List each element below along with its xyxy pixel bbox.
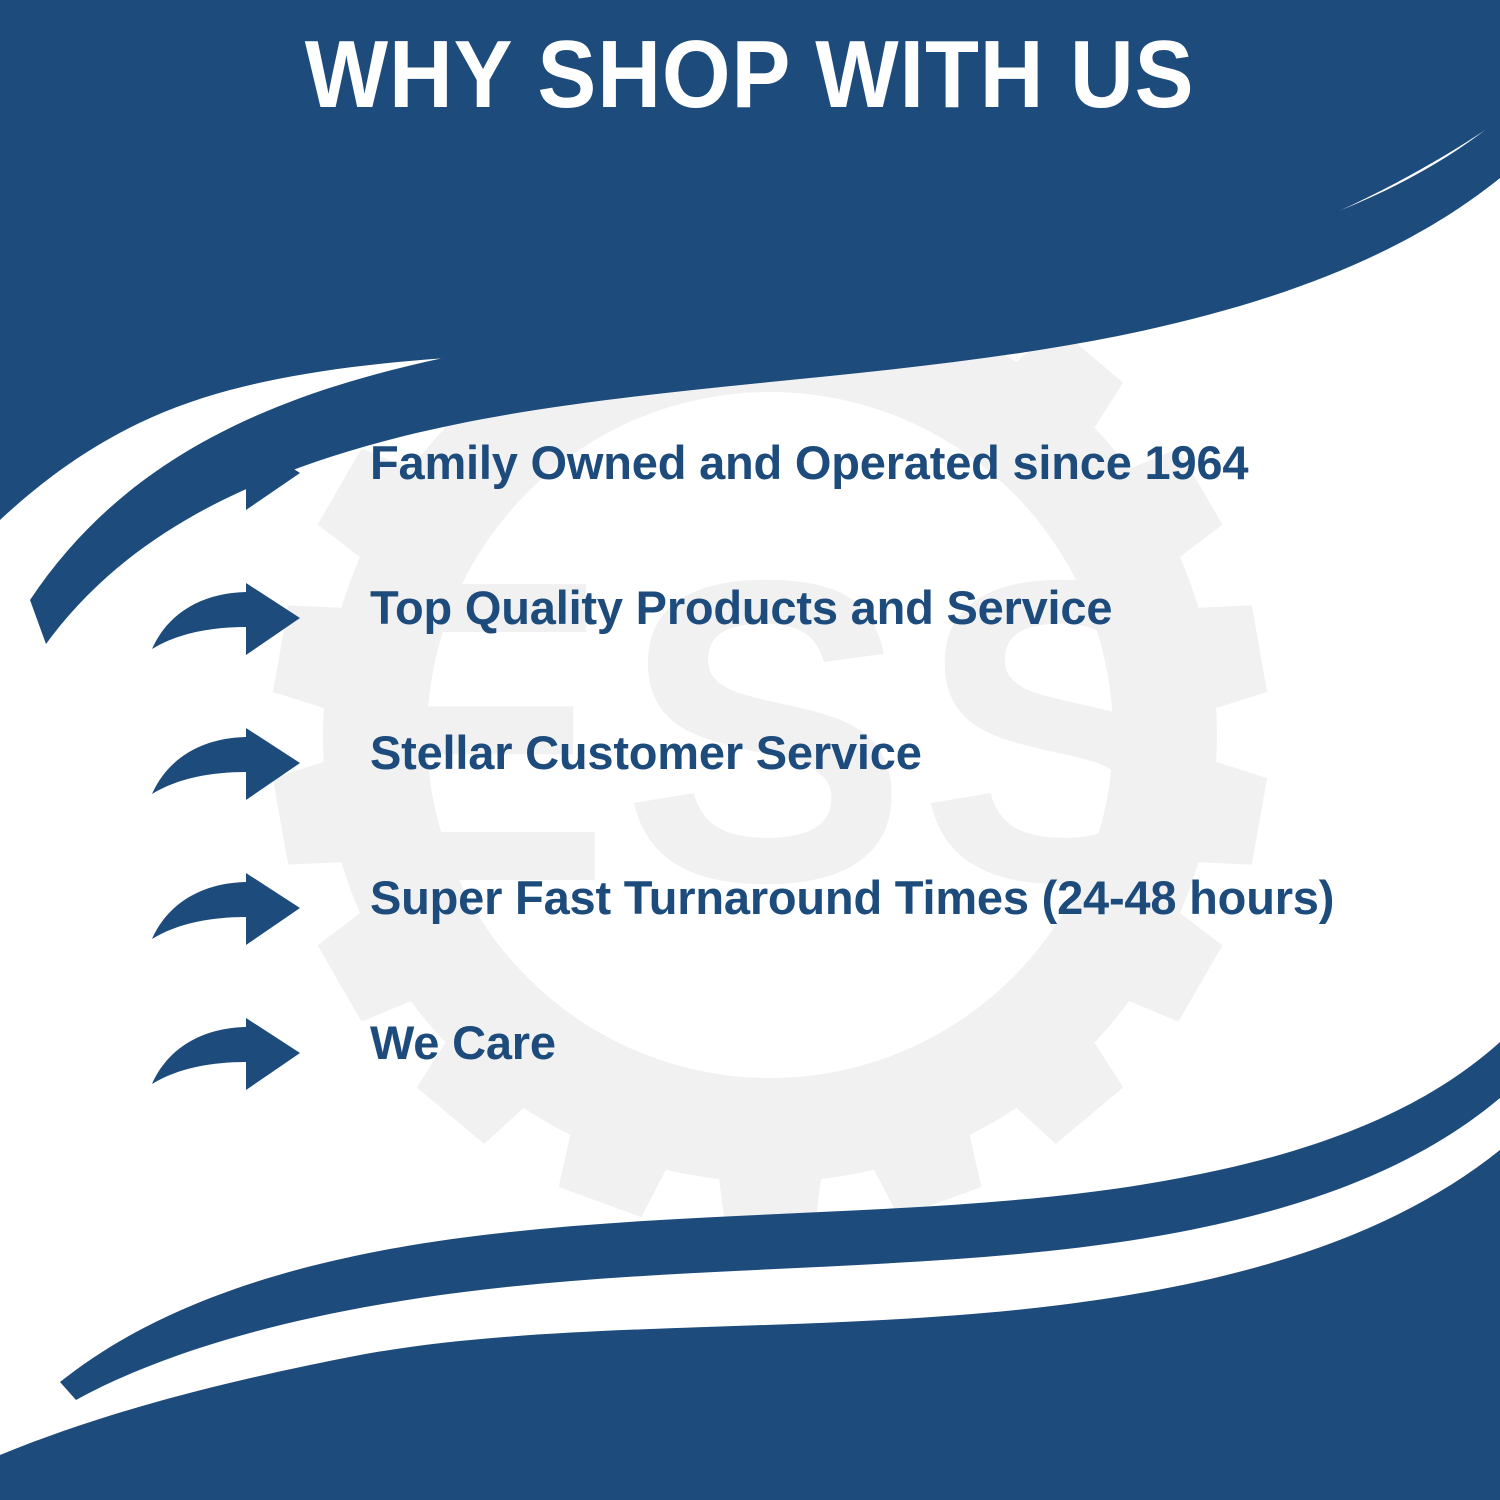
list-item: Super Fast Turnaround Times (24-48 hours… (0, 867, 1500, 1012)
bottom-wave-band (0, 1150, 1500, 1500)
list-item: Top Quality Products and Service (0, 577, 1500, 722)
list-item: Family Owned and Operated since 1964 (0, 432, 1500, 577)
curved-arrow-right-icon (150, 728, 302, 806)
poster-canvas: ESS WHY SHOP WITH US Family Owned and Op… (0, 0, 1500, 1500)
page-title: WHY SHOP WITH US (305, 27, 1195, 123)
curved-arrow-right-icon (150, 583, 302, 661)
curved-arrow-right-icon (150, 1018, 302, 1096)
benefits-list: Family Owned and Operated since 1964 Top… (0, 432, 1500, 1157)
list-item: Stellar Customer Service (0, 722, 1500, 867)
list-item: We Care (0, 1012, 1500, 1157)
benefit-label: Super Fast Turnaround Times (24-48 hours… (370, 871, 1334, 925)
curved-arrow-right-icon (150, 438, 302, 516)
title-bar: WHY SHOP WITH US (0, 0, 1500, 150)
benefit-label: We Care (370, 1016, 556, 1070)
benefit-label: Family Owned and Operated since 1964 (370, 436, 1248, 490)
curved-arrow-right-icon (150, 873, 302, 951)
benefit-label: Stellar Customer Service (370, 726, 922, 780)
benefit-label: Top Quality Products and Service (370, 581, 1112, 635)
